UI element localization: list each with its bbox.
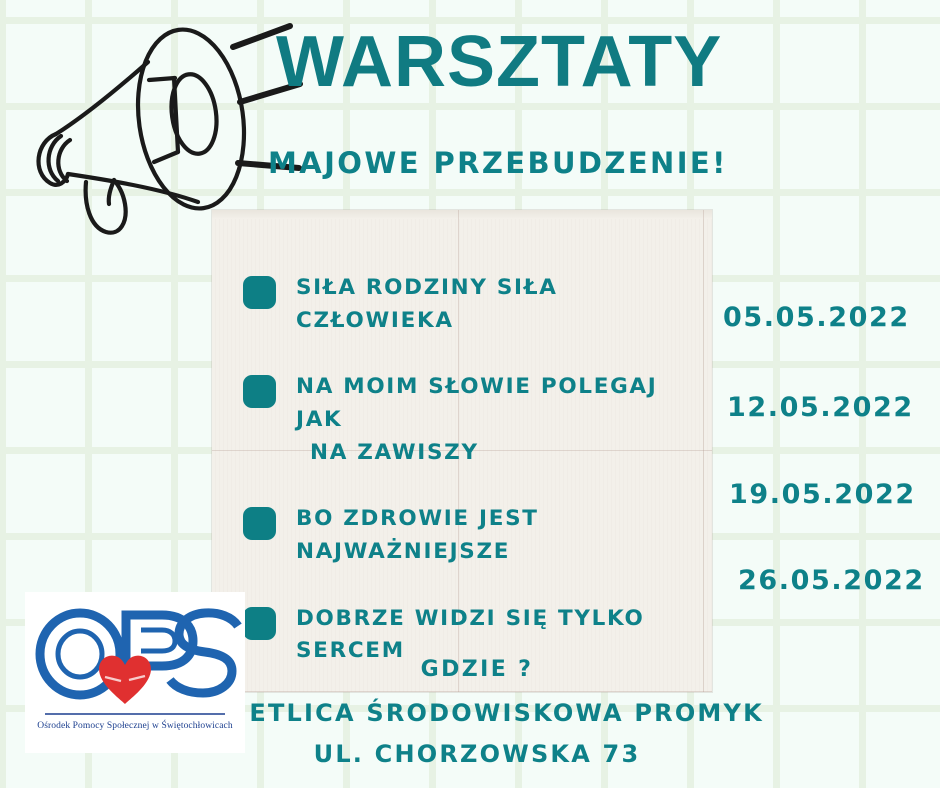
workshop-title: NA MOIM SŁOWIE POLEGAJ JAK NA ZAWISZY bbox=[296, 371, 713, 469]
bullet-square-icon bbox=[243, 375, 276, 408]
list-item: BO ZDROWIE JEST NAJWAŻNIEJSZE bbox=[243, 503, 713, 568]
workshop-date: 26.05.2022 bbox=[738, 565, 925, 596]
workshop-title: SIŁA RODZINY SIŁA CZŁOWIEKA bbox=[296, 272, 713, 337]
ops-logo: Ośrodek Pomocy Społecznej w Świętochłowi… bbox=[25, 592, 245, 753]
workshop-title: BO ZDROWIE JEST NAJWAŻNIEJSZE bbox=[296, 503, 713, 568]
workshop-title-line1: DOBRZE WIDZI SIĘ TYLKO SERCEM bbox=[296, 606, 644, 664]
workshop-date: 19.05.2022 bbox=[729, 479, 916, 510]
workshop-title-line2: NA ZAWISZY bbox=[296, 437, 713, 470]
list-item: NA MOIM SŁOWIE POLEGAJ JAK NA ZAWISZY bbox=[243, 371, 713, 469]
workshop-title-line1: BO ZDROWIE JEST NAJWAŻNIEJSZE bbox=[296, 506, 539, 564]
poster-title: WARSZTATY bbox=[276, 26, 722, 98]
bullet-square-icon bbox=[243, 507, 276, 540]
megaphone-icon bbox=[28, 22, 318, 242]
bullet-square-icon bbox=[243, 607, 276, 640]
workshop-date: 12.05.2022 bbox=[727, 392, 914, 423]
poster-canvas: WARSZTATY MAJOWE PRZEBUDZENIE! SIŁA RODZ… bbox=[0, 0, 940, 788]
workshop-list: SIŁA RODZINY SIŁA CZŁOWIEKA NA MOIM SŁOW… bbox=[243, 272, 713, 702]
list-item: SIŁA RODZINY SIŁA CZŁOWIEKA bbox=[243, 272, 713, 337]
ops-logo-tagline: Ośrodek Pomocy Społecznej w Świętochłowi… bbox=[25, 721, 245, 731]
workshop-title-line1: NA MOIM SŁOWIE POLEGAJ JAK bbox=[296, 374, 657, 432]
ops-logo-mark bbox=[25, 592, 245, 732]
workshop-date: 05.05.2022 bbox=[723, 302, 910, 333]
workshop-title-line1: SIŁA RODZINY SIŁA CZŁOWIEKA bbox=[296, 275, 558, 333]
poster-subtitle: MAJOWE PRZEBUDZENIE! bbox=[268, 146, 728, 180]
bullet-square-icon bbox=[243, 276, 276, 309]
